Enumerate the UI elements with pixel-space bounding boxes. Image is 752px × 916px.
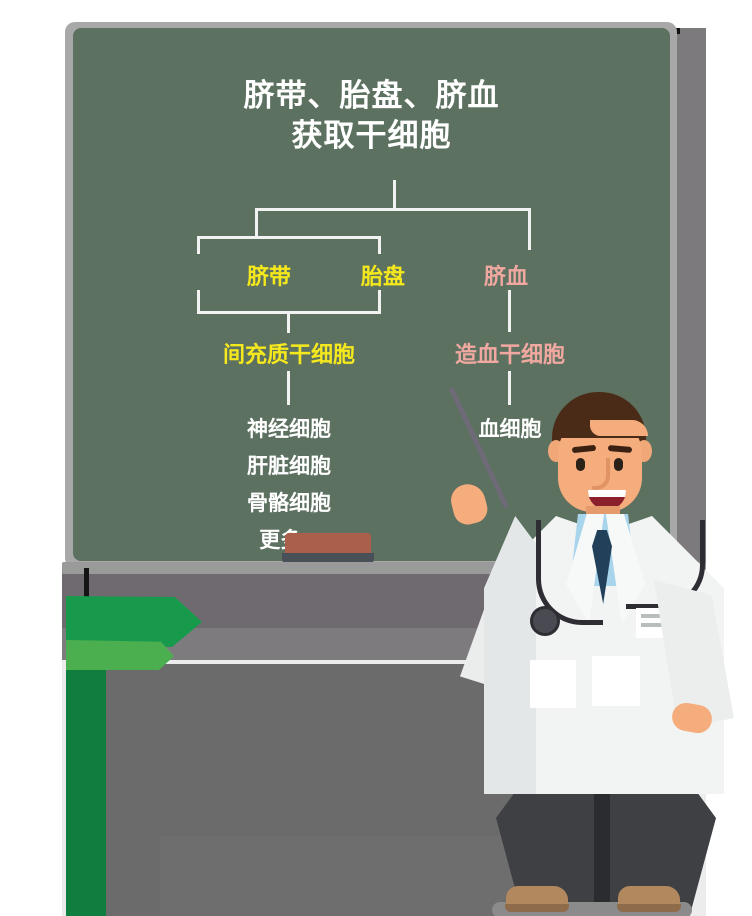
connector-cordblood-to-hsc: [508, 290, 511, 332]
board-title-line-1: 脐带、胎盘、脐血: [73, 76, 670, 116]
board-title: 脐带、胎盘、脐血 获取干细胞: [73, 76, 670, 157]
connector-right-drop: [528, 208, 531, 250]
plant-lower-foliage: [66, 668, 106, 916]
node-placenta: 胎盘: [335, 259, 431, 291]
doctor-sole-left: [505, 904, 569, 912]
connector-top-split: [255, 208, 531, 211]
leaf-liver-cell: 肝脏细胞: [189, 450, 389, 480]
doctor-teeth: [588, 490, 626, 497]
doctor-figure: [440, 384, 720, 916]
doctor-pocket-right: [592, 656, 640, 706]
doctor-sole-right: [617, 904, 681, 912]
doctor-forehead: [590, 420, 648, 436]
connector-source-bracket-right: [378, 236, 381, 254]
connector-source-bracket-top: [197, 236, 381, 239]
eraser-body: [282, 553, 374, 562]
node-mesenchymal-stem-cell: 间充质干细胞: [175, 337, 403, 369]
connector-merge-down: [287, 311, 290, 333]
doctor-coat-shading: [484, 516, 536, 794]
node-umbilical-cord: 脐带: [221, 259, 317, 291]
connector-root-trunk: [393, 180, 396, 210]
plant-leaf-lower: [66, 640, 174, 670]
connector-left-drop: [255, 208, 258, 238]
illustration-canvas: 脐带、胎盘、脐血 获取干细胞 脐带 胎盘 脐血 间充质干细胞 造血干细胞 神经细…: [0, 0, 752, 916]
eraser-icon: [285, 533, 371, 555]
doctor-trouser-seam: [594, 776, 610, 916]
connector-source-bracket-left: [197, 236, 200, 254]
node-hematopoietic-stem-cell: 造血干细胞: [416, 337, 604, 369]
node-cord-blood: 脐血: [458, 259, 554, 291]
leaf-bone-cell: 骨骼细胞: [189, 487, 389, 517]
board-title-line-2: 获取干细胞: [73, 116, 670, 156]
doctor-eye-left: [576, 458, 585, 471]
leaf-neural-cell: 神经细胞: [189, 413, 389, 443]
doctor-pocket-left: [530, 660, 576, 708]
stethoscope-chestpiece-icon: [530, 606, 560, 636]
doctor-eye-right: [614, 458, 623, 471]
connector-msc-to-leaves: [287, 371, 290, 405]
